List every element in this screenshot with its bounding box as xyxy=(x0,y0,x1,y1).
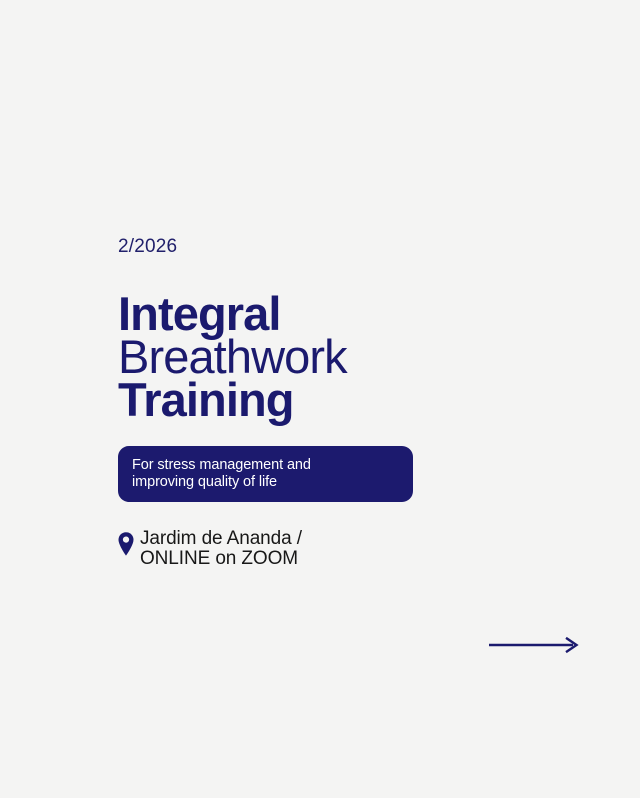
location-block: Jardim de Ananda / ONLINE on ZOOM xyxy=(116,529,302,569)
date-label: 2/2026 xyxy=(118,237,177,256)
location-line-1: Jardim de Ananda / xyxy=(140,529,302,549)
subtitle-line-2: improving quality of life xyxy=(132,474,404,491)
title-line-3: Training xyxy=(118,378,347,421)
title-line-1: Integral xyxy=(118,292,347,335)
subtitle-badge-text: For stress management and improving qual… xyxy=(132,457,404,490)
map-pin-icon xyxy=(116,531,136,557)
arrow-right-icon xyxy=(487,634,581,656)
location-line-2: ONLINE on ZOOM xyxy=(140,549,302,569)
promo-card: 2/2026 Integral Breathwork Training For … xyxy=(0,0,640,798)
title-line-2: Breathwork xyxy=(118,335,347,378)
location-text: Jardim de Ananda / ONLINE on ZOOM xyxy=(140,529,302,569)
page-title: Integral Breathwork Training xyxy=(118,292,347,421)
subtitle-badge: For stress management and improving qual… xyxy=(118,446,413,502)
next-arrow-button[interactable] xyxy=(487,634,581,656)
subtitle-line-1: For stress management and xyxy=(132,457,404,474)
